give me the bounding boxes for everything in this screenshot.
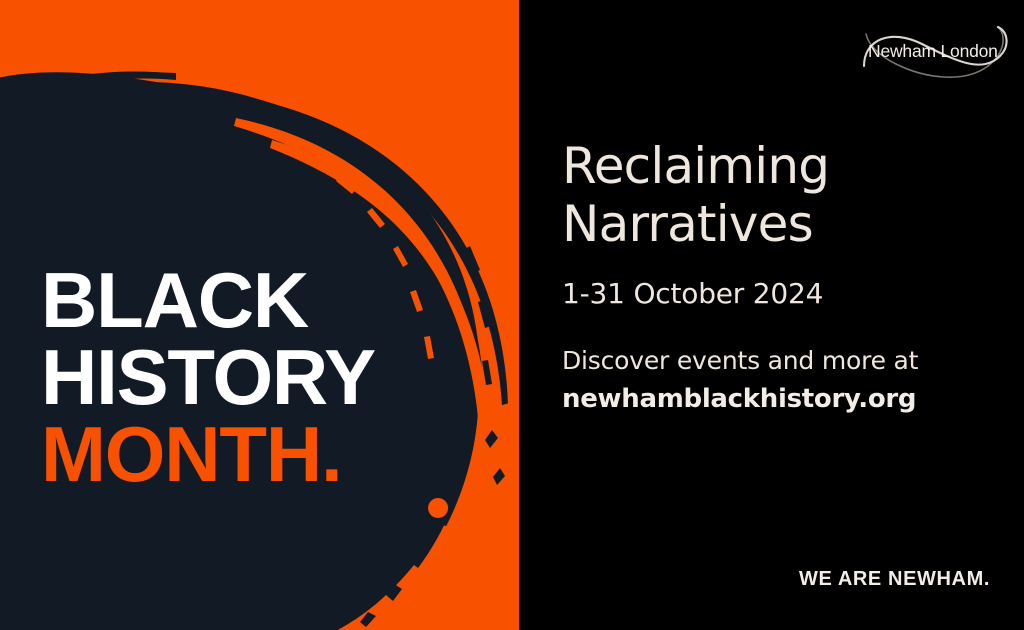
headline-line-2: HISTORY — [41, 339, 375, 416]
black-history-month-poster: BLACK HISTORY MONTH. Newham London Recla… — [0, 0, 1024, 630]
event-dates: 1-31 October 2024 — [562, 277, 1002, 310]
discover-text: Discover events and more at — [562, 346, 1002, 375]
headline-line-3: MONTH. — [41, 416, 375, 493]
event-title: Reclaiming Narratives — [562, 137, 1002, 253]
headline-line-1: BLACK — [41, 262, 375, 339]
we-are-newham-tagline: WE ARE NEWHAM. — [799, 568, 990, 591]
page-title: BLACK HISTORY MONTH. — [41, 262, 375, 492]
newham-london-logo: Newham London — [860, 22, 1008, 84]
logo-text: Newham London — [868, 41, 998, 62]
event-copy-block: Reclaiming Narratives 1-31 October 2024 … — [562, 137, 1002, 414]
event-title-line-2: Narratives — [562, 195, 1002, 253]
left-orange-panel: BLACK HISTORY MONTH. — [0, 0, 519, 630]
event-title-line-1: Reclaiming — [562, 137, 1002, 195]
website-url[interactable]: newhamblackhistory.org — [562, 384, 1002, 414]
right-black-panel: Newham London Reclaiming Narratives 1-31… — [519, 0, 1024, 630]
